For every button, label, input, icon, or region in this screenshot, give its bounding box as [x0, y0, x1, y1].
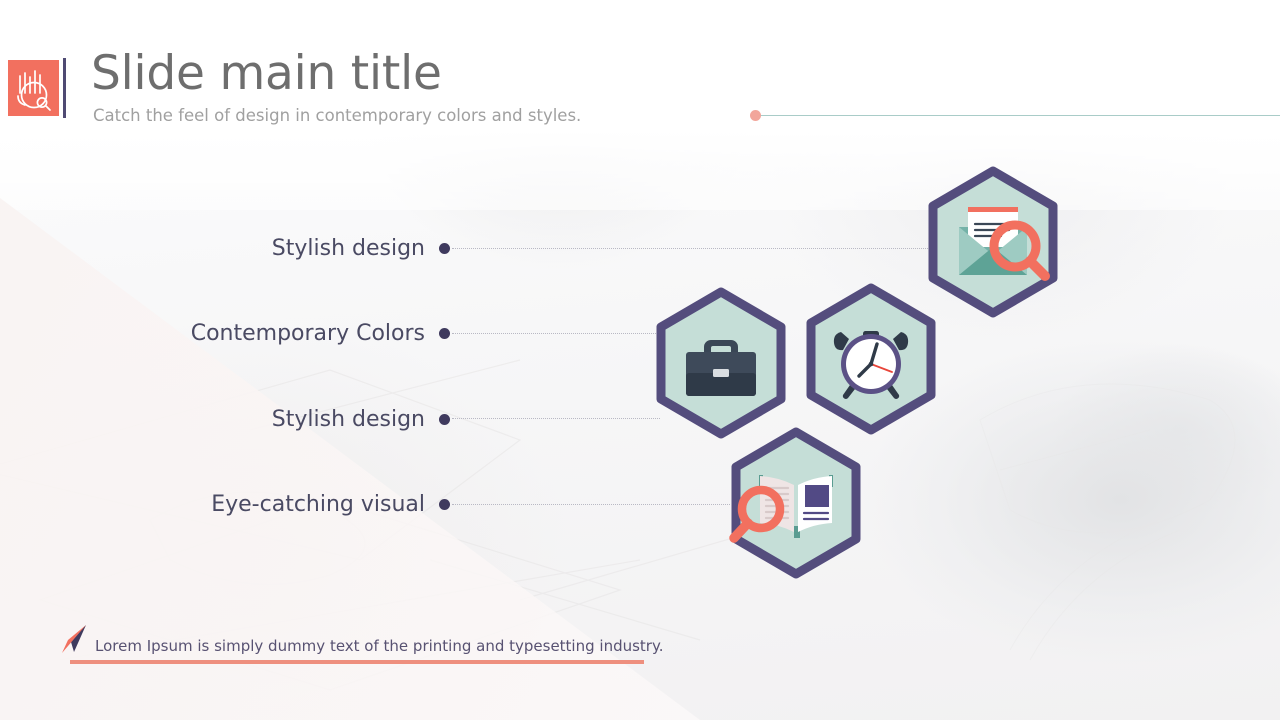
header-accent-dot: [750, 110, 761, 121]
header-divider: [63, 58, 66, 118]
slide-canvas: Slide main title Catch the feel of desig…: [0, 0, 1280, 720]
leader-line-2: [452, 333, 660, 335]
list-item-label: Stylish design: [272, 236, 425, 261]
page-title: Slide main title: [91, 50, 442, 97]
list-item-label: Eye-catching visual: [211, 492, 425, 517]
hex-envelope-search[interactable]: [927, 167, 1072, 327]
list-item[interactable]: Eye-catching visual: [180, 489, 450, 519]
footer-accent-bar: [70, 660, 644, 664]
paper-plane-icon: [58, 622, 92, 656]
bullet-dot-icon: [439, 328, 450, 339]
list-item[interactable]: Contemporary Colors: [180, 318, 450, 348]
hex-book-search[interactable]: [715, 428, 865, 583]
leader-line-4: [452, 504, 730, 506]
header-accent-line: [760, 115, 1280, 116]
bullet-dot-icon: [439, 414, 450, 425]
bar-chart-magnifier-icon: [8, 60, 59, 116]
list-item-label: Stylish design: [272, 407, 425, 432]
page-subtitle: Catch the feel of design in contemporary…: [93, 106, 581, 125]
list-item[interactable]: Stylish design: [180, 404, 450, 434]
leader-line-1: [452, 248, 930, 250]
footer-caption: Lorem Ipsum is simply dummy text of the …: [95, 637, 663, 655]
leader-line-3: [452, 418, 660, 420]
list-item-label: Contemporary Colors: [191, 321, 425, 346]
hex-briefcase[interactable]: [655, 288, 787, 438]
bullet-dot-icon: [439, 243, 450, 254]
background-white-top: [0, 0, 1280, 210]
logo-badge: [8, 60, 59, 116]
bullet-dot-icon: [439, 499, 450, 510]
list-item[interactable]: Stylish design: [180, 233, 450, 263]
hexagon-shape: [736, 432, 856, 574]
hex-alarm-clock[interactable]: [805, 284, 937, 434]
